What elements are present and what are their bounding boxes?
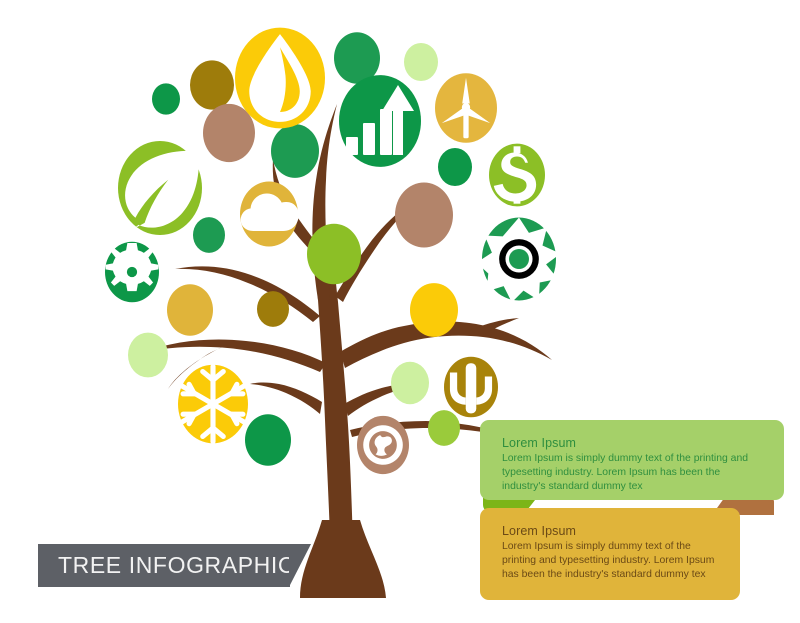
dollar-sign-icon[interactable] bbox=[489, 144, 545, 207]
snowflake-icon[interactable] bbox=[178, 365, 248, 443]
water-drop-icon[interactable] bbox=[235, 28, 325, 129]
bar-chart-growth-icon[interactable] bbox=[339, 75, 421, 167]
callout-yellow-text: Lorem Ipsum is simply dummy text of the … bbox=[502, 540, 718, 583]
infographic-canvas: Lorem Ipsum Lorem Ipsum is simply dummy … bbox=[0, 0, 800, 623]
callout-yellow[interactable]: Lorem Ipsum Lorem Ipsum is simply dummy … bbox=[480, 508, 740, 600]
page-title: TREE INFOGRAPHIC bbox=[58, 544, 295, 587]
sun-icon-inner-hole bbox=[509, 249, 529, 269]
globe-icon[interactable] bbox=[357, 416, 409, 474]
gear-icon[interactable] bbox=[105, 242, 159, 302]
title-banner: TREE INFOGRAPHIC bbox=[38, 544, 290, 587]
callout-green-text: Lorem Ipsum is simply dummy text of the … bbox=[502, 452, 762, 495]
callout-yellow-body: Lorem Ipsum Lorem Ipsum is simply dummy … bbox=[480, 508, 740, 600]
callout-yellow-title: Lorem Ipsum bbox=[502, 524, 718, 538]
callout-green[interactable]: Lorem Ipsum Lorem Ipsum is simply dummy … bbox=[480, 420, 784, 500]
leaf-icon[interactable] bbox=[118, 141, 202, 235]
cactus-icon[interactable] bbox=[444, 357, 498, 417]
callout-green-body: Lorem Ipsum Lorem Ipsum is simply dummy … bbox=[480, 420, 784, 500]
sun-icon[interactable] bbox=[477, 217, 561, 302]
gear-icon-hub-hole bbox=[127, 267, 137, 277]
cloud-icon[interactable] bbox=[240, 182, 299, 247]
callout-green-title: Lorem Ipsum bbox=[502, 436, 762, 450]
wind-turbine-icon[interactable] bbox=[435, 73, 497, 142]
